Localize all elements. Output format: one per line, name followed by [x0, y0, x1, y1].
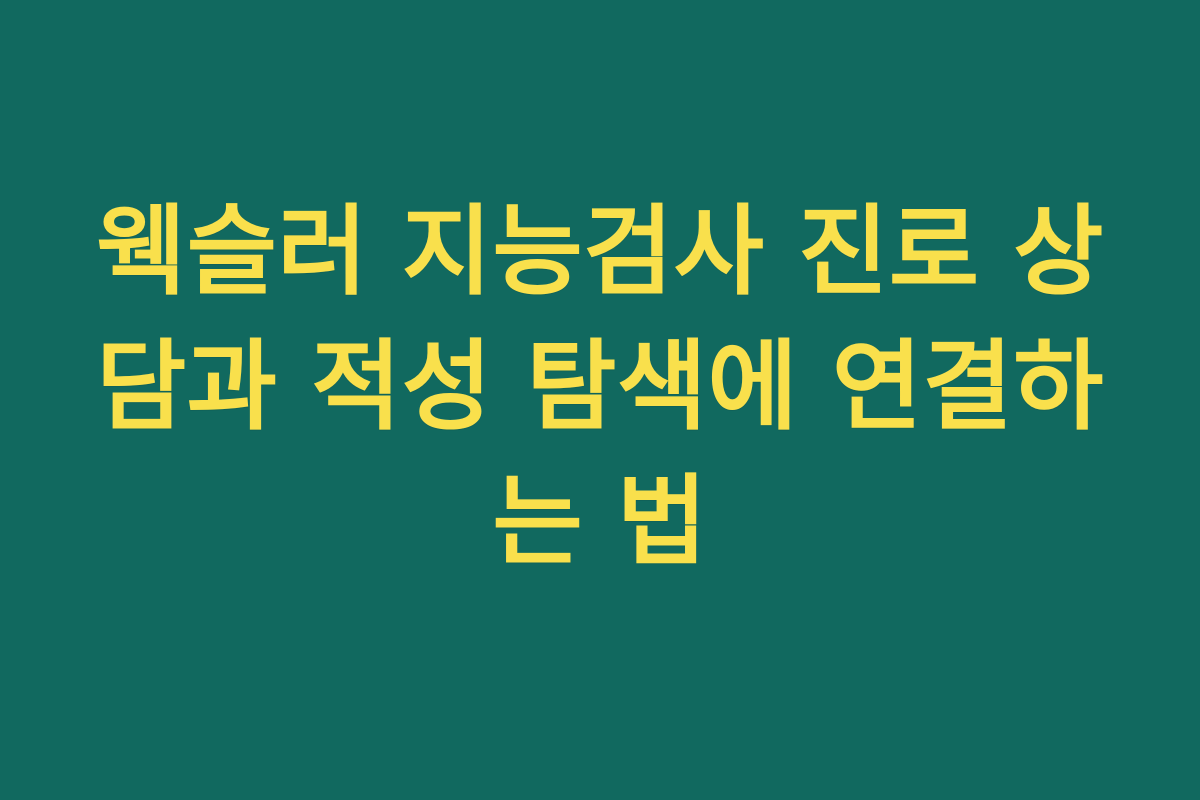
title-line-2: 담과 적성 탐색에 연결하 [80, 319, 1120, 454]
title-line-3: 는 법 [80, 454, 1120, 589]
page-title: 웩슬러 지능검사 진로 상 담과 적성 탐색에 연결하 는 법 [80, 184, 1120, 589]
title-line-1: 웩슬러 지능검사 진로 상 [80, 184, 1120, 319]
title-banner: 웩슬러 지능검사 진로 상 담과 적성 탐색에 연결하 는 법 [0, 0, 1200, 800]
